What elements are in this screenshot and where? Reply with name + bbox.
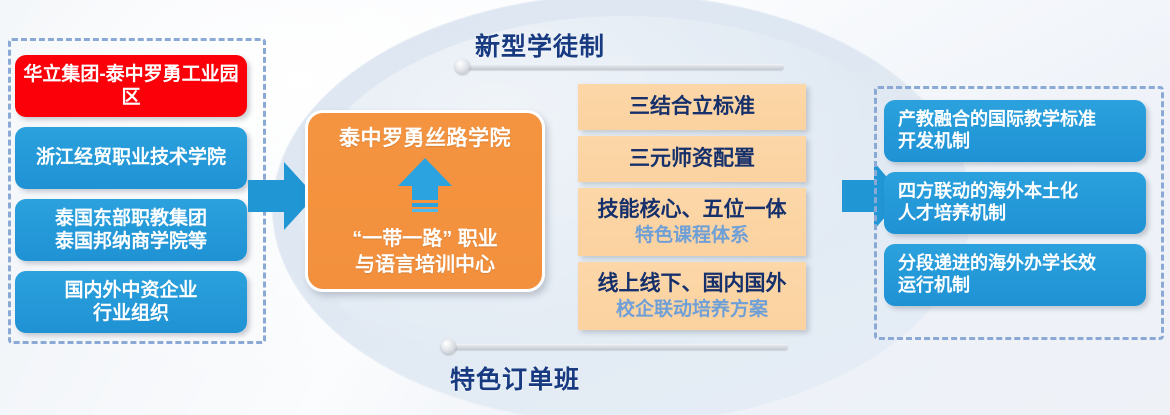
feature-box-three-element-faculty[interactable]: 三元师资配置 [578,136,806,182]
center-card-silk-road-college[interactable]: 泰中罗勇丝路学院 “一带一路” 职业与语言培训中心 [305,110,545,292]
mechanism-item-standard-development[interactable]: 产教融合的国际教学标准开发机制 [884,100,1146,162]
label-new-apprenticeship: 新型学徒制 [475,27,605,63]
bottom-connector-knob [441,339,456,354]
partner-item-label: 浙江经贸职业技术学院 [36,146,226,169]
feature-box-skill-core[interactable]: 技能核心、五位一体 特色课程体系 [578,188,806,256]
partner-item-thailand-vocational-group[interactable]: 泰国东部职教集团泰国邦纳商学院等 [15,199,247,261]
feature-box-line2: 特色课程体系 [635,225,749,248]
partner-item-huali-industrial-park[interactable]: 华立集团-泰中罗勇工业园区 [15,55,247,117]
top-connector-knob [455,59,470,74]
bottom-connector-rail [448,344,788,350]
mechanism-item-label: 分段递进的海外办学长效运行机制 [898,253,1096,297]
label-custom-order-class: 特色订单班 [450,360,580,396]
center-card-title: 泰中罗勇丝路学院 [339,122,511,152]
feature-box-line1: 线上线下、国内国外 [598,271,787,296]
mechanism-item-label: 产教融合的国际教学标准开发机制 [898,109,1096,153]
feature-box-line2: 校企联动培养方案 [616,299,768,322]
partner-item-label: 泰国东部职教集团泰国邦纳商学院等 [55,207,207,253]
partner-item-label: 国内外中资企业行业组织 [64,279,197,325]
feature-box-three-combination[interactable]: 三结合立标准 [578,84,806,130]
partner-item-zhejiang-institute[interactable]: 浙江经贸职业技术学院 [15,127,247,189]
partner-item-chinese-enterprises[interactable]: 国内外中资企业行业组织 [15,271,247,333]
diagram-canvas: 新型学徒制 特色订单班 华立集团-泰中罗勇工业园区 浙江经贸职业技术学院 泰国东… [0,0,1170,415]
mechanism-item-talent-cultivation[interactable]: 四方联动的海外本土化人才培养机制 [884,172,1146,234]
feature-box-line1: 三元师资配置 [629,146,755,171]
feature-box-line1: 三结合立标准 [629,94,755,119]
top-connector-rail [462,64,784,70]
partner-item-label: 华立集团-泰中罗勇工业园区 [23,63,239,109]
up-arrow-icon [392,156,458,223]
mechanism-item-label: 四方联动的海外本土化人才培养机制 [898,181,1078,225]
mechanism-item-long-term-operation[interactable]: 分段递进的海外办学长效运行机制 [884,244,1146,306]
feature-box-line1: 技能核心、五位一体 [598,197,787,222]
feature-box-online-offline[interactable]: 线上线下、国内国外 校企联动培养方案 [578,262,806,330]
center-card-subtitle: “一带一路” 职业与语言培训中心 [352,227,498,278]
